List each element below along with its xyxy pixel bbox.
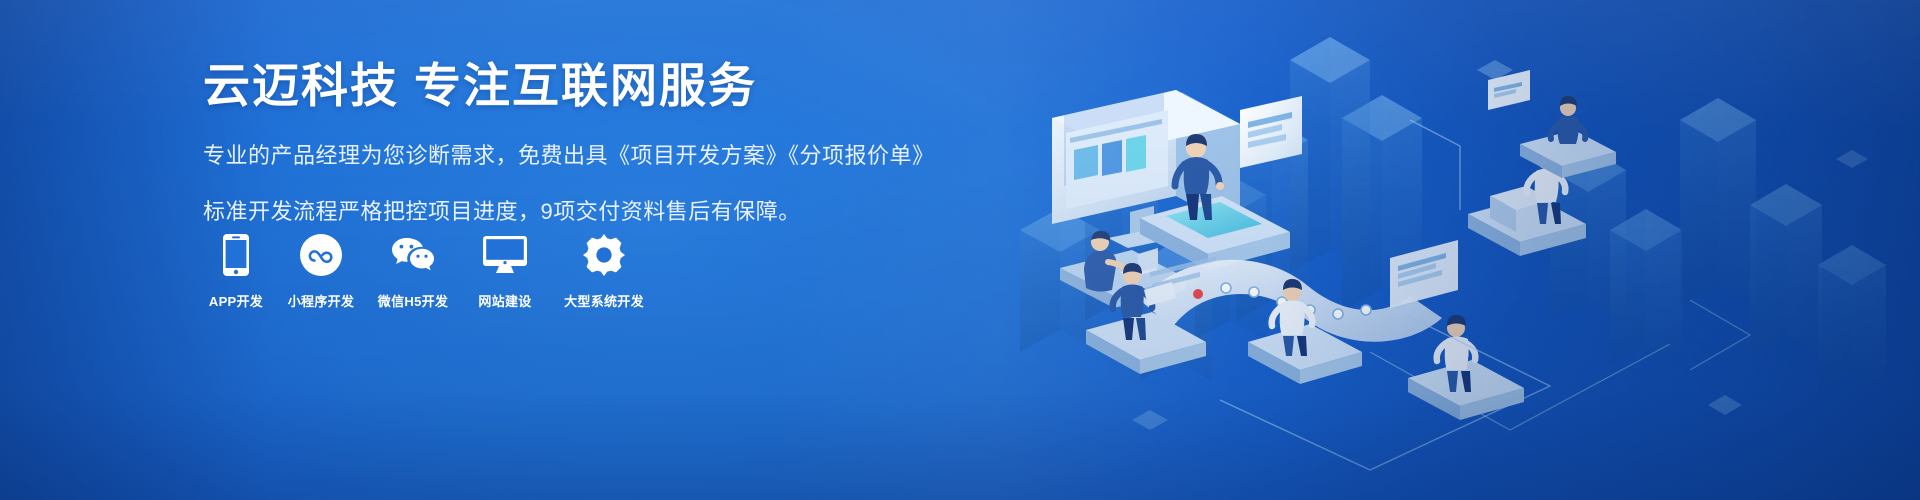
banner-subtitle-line-2: 标准开发流程严格把控项目进度，9项交付资料售后有保障。 — [203, 195, 923, 229]
service-label-wechat-h5: 微信H5开发 — [378, 291, 448, 310]
service-icon-row: APP开发 小程序开发 微信 — [200, 232, 660, 310]
mini-program-icon — [300, 232, 342, 278]
service-item-miniprogram[interactable]: 小程序开发 — [278, 232, 364, 310]
service-label-large-system: 大型系统开发 — [564, 291, 644, 310]
mobile-phone-icon — [223, 232, 249, 278]
monitor-icon — [483, 232, 527, 278]
service-label-app: APP开发 — [209, 291, 263, 310]
service-item-app[interactable]: APP开发 — [200, 232, 272, 310]
service-label-miniprogram: 小程序开发 — [288, 291, 355, 310]
service-item-large-system[interactable]: 大型系统开发 — [554, 232, 654, 310]
service-item-website[interactable]: 网站建设 — [462, 232, 548, 310]
banner-text-block: 云迈科技 专注互联网服务 专业的产品经理为您诊断需求，免费出具《项目开发方案》《… — [203, 60, 923, 251]
service-item-wechat-h5[interactable]: 微信H5开发 — [370, 232, 456, 310]
wechat-icon — [390, 232, 436, 278]
promo-banner: 云迈科技 专注互联网服务 专业的产品经理为您诊断需求，免费出具《项目开发方案》《… — [0, 0, 1920, 500]
banner-subtitle-line-1: 专业的产品经理为您诊断需求，免费出具《项目开发方案》《分项报价单》 — [203, 139, 923, 173]
banner-headline: 云迈科技 专注互联网服务 — [203, 60, 923, 113]
service-label-website: 网站建设 — [478, 291, 531, 310]
hero-illustration — [990, 0, 1920, 500]
gear-icon — [583, 232, 625, 278]
